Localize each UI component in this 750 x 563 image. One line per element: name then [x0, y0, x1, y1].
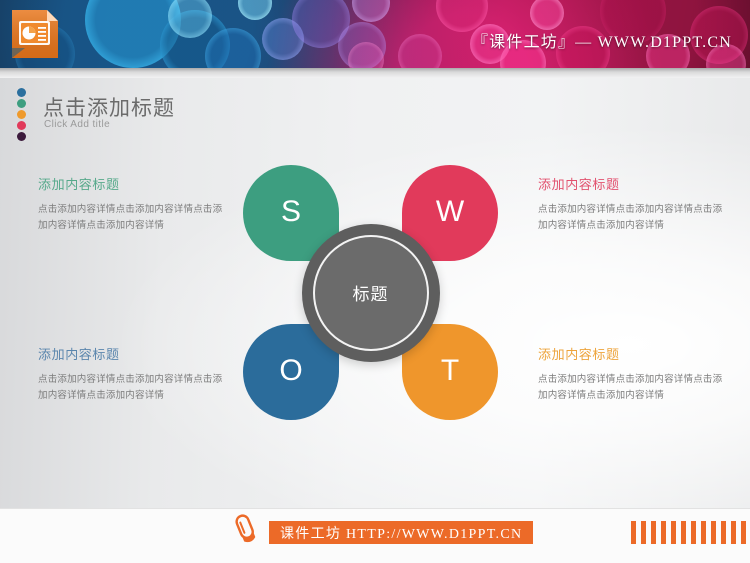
- content-block-top-left: 添加内容标题 点击添加内容详情点击添加内容详情点击添加内容详情点击添加内容详情: [38, 174, 230, 234]
- footer-stripe: [681, 521, 686, 544]
- footer-stripe: [711, 521, 716, 544]
- title-dot: [17, 88, 26, 97]
- footer-url-label: 课件工坊 HTTP://WWW.D1PPT.CN: [269, 521, 533, 544]
- footer-stripe: [641, 521, 646, 544]
- bokeh-circle: [262, 18, 304, 60]
- content-body: 点击添加内容详情点击添加内容详情点击添加内容详情点击添加内容详情: [38, 202, 230, 234]
- footer-url-text: 课件工坊 HTTP://WWW.D1PPT.CN: [280, 523, 522, 543]
- footer-stripe: [651, 521, 656, 544]
- title-dot: [17, 110, 26, 119]
- footer-stripe: [701, 521, 706, 544]
- footer-stripe: [671, 521, 676, 544]
- bokeh-circle: [238, 0, 272, 20]
- bokeh-circle: [398, 34, 442, 68]
- swot-petal-w-label: W: [436, 195, 464, 229]
- presentation-slide: 『课件工坊』— WWW.D1PPT.CN 点击添加标题 Click Add ti…: [0, 0, 750, 563]
- title-dot: [17, 132, 26, 141]
- content-block-top-right: 添加内容标题 点击添加内容详情点击添加内容详情点击添加内容详情点击添加内容详情: [538, 174, 730, 234]
- bokeh-circle: [530, 0, 564, 30]
- pen-icon: [231, 513, 261, 547]
- content-body: 点击添加内容详情点击添加内容详情点击添加内容详情点击添加内容详情: [38, 372, 230, 404]
- page-subtitle: Click Add title: [44, 119, 110, 130]
- header-banner: 『课件工坊』— WWW.D1PPT.CN: [0, 0, 750, 68]
- swot-center-ring: 标题: [313, 235, 429, 351]
- content-heading: 添加内容标题: [538, 174, 730, 193]
- page-title: 点击添加标题: [43, 92, 175, 122]
- bokeh-circle: [168, 0, 212, 38]
- bokeh-circle: [352, 0, 390, 22]
- bokeh-circle: [205, 28, 261, 68]
- footer-stripe: [731, 521, 736, 544]
- footer-stripe-group: [631, 521, 746, 544]
- footer-stripe: [631, 521, 636, 544]
- header-shadow: [0, 68, 750, 78]
- content-heading: 添加内容标题: [38, 174, 230, 193]
- title-dot: [17, 99, 26, 108]
- bokeh-circle: [85, 0, 181, 68]
- content-heading: 添加内容标题: [538, 344, 730, 363]
- title-dot-column: [17, 88, 28, 143]
- bokeh-circle: [160, 10, 230, 68]
- bokeh-circle: [338, 22, 386, 68]
- swot-petal-o-label: O: [279, 354, 302, 388]
- content-block-bottom-right: 添加内容标题 点击添加内容详情点击添加内容详情点击添加内容详情点击添加内容详情: [538, 344, 730, 404]
- footer-stripe: [691, 521, 696, 544]
- swot-petal-t-label: T: [441, 354, 459, 388]
- footer-stripe: [661, 521, 666, 544]
- content-body: 点击添加内容详情点击添加内容详情点击添加内容详情点击添加内容详情: [538, 202, 730, 234]
- powerpoint-document-icon: [10, 8, 60, 60]
- swot-diagram: S W O T 标题: [243, 165, 498, 420]
- swot-center-circle[interactable]: 标题: [302, 224, 440, 362]
- content-heading: 添加内容标题: [38, 344, 230, 363]
- content-block-bottom-left: 添加内容标题 点击添加内容详情点击添加内容详情点击添加内容详情点击添加内容详情: [38, 344, 230, 404]
- title-dot: [17, 121, 26, 130]
- footer-stripe: [721, 521, 726, 544]
- bokeh-circle: [348, 42, 384, 68]
- header-watermark: 『课件工坊』— WWW.D1PPT.CN: [472, 28, 732, 52]
- swot-center-label: 标题: [353, 280, 389, 305]
- content-body: 点击添加内容详情点击添加内容详情点击添加内容详情点击添加内容详情: [538, 372, 730, 404]
- swot-petal-s-label: S: [281, 195, 301, 229]
- footer-stripe: [741, 521, 746, 544]
- bokeh-circle: [292, 0, 350, 48]
